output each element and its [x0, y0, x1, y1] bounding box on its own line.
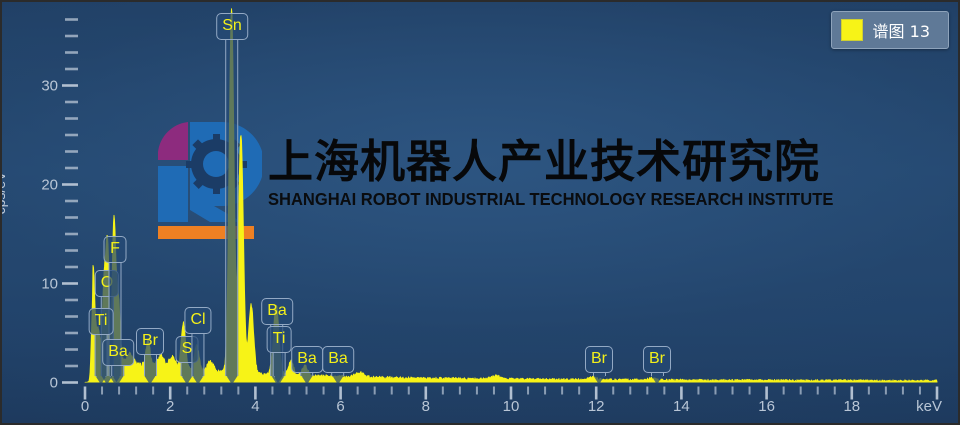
peak-label-stem [225, 40, 238, 376]
x-tick-label: 0 [81, 398, 89, 415]
y-tick-label: 30 [22, 77, 58, 94]
peak-label-ba[interactable]: Ba [322, 346, 354, 373]
peak-label-f[interactable]: F [104, 236, 127, 263]
peak-label-stem [191, 334, 204, 376]
x-tick-label: 4 [251, 398, 259, 415]
spectrum-trace [85, 9, 937, 383]
peak-label-cl[interactable]: Cl [184, 307, 211, 334]
legend-series-label: 谱图 13 [873, 18, 930, 42]
peak-label-text: Cl [184, 307, 211, 334]
peak-label-br[interactable]: Br [136, 328, 164, 355]
y-tick-label: 0 [22, 374, 58, 391]
peak-label-stem [593, 373, 606, 376]
x-axis-unit-label: keV [916, 398, 942, 415]
x-tick-label: 14 [673, 398, 690, 415]
x-tick-label: 2 [166, 398, 174, 415]
x-tick-label: 8 [422, 398, 430, 415]
peak-label-stem [144, 355, 157, 376]
legend-color-swatch [841, 19, 863, 41]
peak-label-br[interactable]: Br [585, 346, 613, 373]
y-axis-title: cps/eV [0, 172, 8, 215]
eds-spectrum-viewer: 上海机器人产业技术研究院 SHANGHAI ROBOT INDUSTRIAL T… [0, 0, 960, 425]
peak-label-text: Ba [291, 346, 323, 373]
peak-label-stem [331, 373, 344, 376]
peak-label-text: Sn [216, 13, 248, 40]
peak-label-stem [272, 353, 285, 376]
peak-label-stem [651, 373, 664, 376]
peak-label-text: Br [643, 346, 671, 373]
x-tick-label: 6 [336, 398, 344, 415]
x-tick-label: 12 [588, 398, 605, 415]
peak-label-text: Br [585, 346, 613, 373]
peak-label-sn[interactable]: Sn [216, 13, 248, 40]
peak-label-text: Ti [89, 308, 114, 335]
peak-label-text: Ti [267, 326, 292, 353]
peak-label-ba[interactable]: Ba [291, 346, 323, 373]
peak-label-ba[interactable]: Ba [261, 298, 293, 325]
x-tick-label: 18 [843, 398, 860, 415]
peak-label-br[interactable]: Br [643, 346, 671, 373]
legend-box[interactable]: 谱图 13 [831, 11, 949, 49]
peak-label-text: Ba [261, 298, 293, 325]
x-tick-label: 10 [503, 398, 520, 415]
peak-label-text: Ba [102, 339, 134, 366]
y-tick-label: 20 [22, 176, 58, 193]
peak-label-ba[interactable]: Ba [102, 339, 134, 366]
y-tick-label: 10 [22, 275, 58, 292]
x-tick-label: 16 [758, 398, 775, 415]
peak-label-text: Ba [322, 346, 354, 373]
peak-label-ti[interactable]: Ti [267, 326, 292, 353]
peak-label-text: F [104, 236, 127, 263]
peak-label-ti[interactable]: Ti [89, 308, 114, 335]
peak-label-text: Br [136, 328, 164, 355]
peak-label-stem [111, 366, 124, 376]
peak-label-stem [300, 373, 313, 376]
